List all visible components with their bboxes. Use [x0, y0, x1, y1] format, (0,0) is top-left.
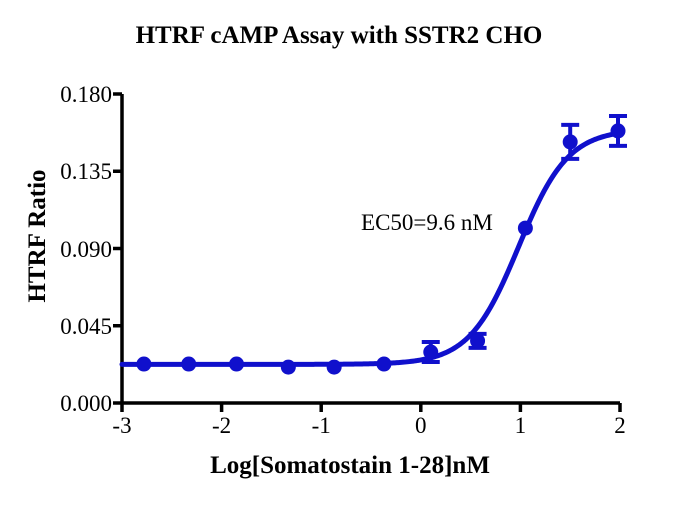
chart-figure: HTRF cAMP Assay with SSTR2 CHO HTRF Rati…	[0, 0, 678, 513]
data-point-markers	[136, 123, 625, 374]
axis-lines	[122, 94, 620, 403]
plot-canvas	[0, 0, 678, 513]
fit-curve	[122, 133, 620, 364]
data-point	[423, 345, 438, 360]
data-point	[563, 134, 578, 149]
data-point	[518, 221, 533, 236]
data-point	[181, 357, 196, 372]
data-point	[327, 360, 342, 375]
data-point	[136, 357, 151, 372]
data-point	[229, 357, 244, 372]
data-point	[470, 333, 485, 348]
data-point	[281, 360, 296, 375]
data-point	[376, 357, 391, 372]
fit-curve-line	[122, 133, 620, 364]
data-point	[611, 123, 626, 138]
